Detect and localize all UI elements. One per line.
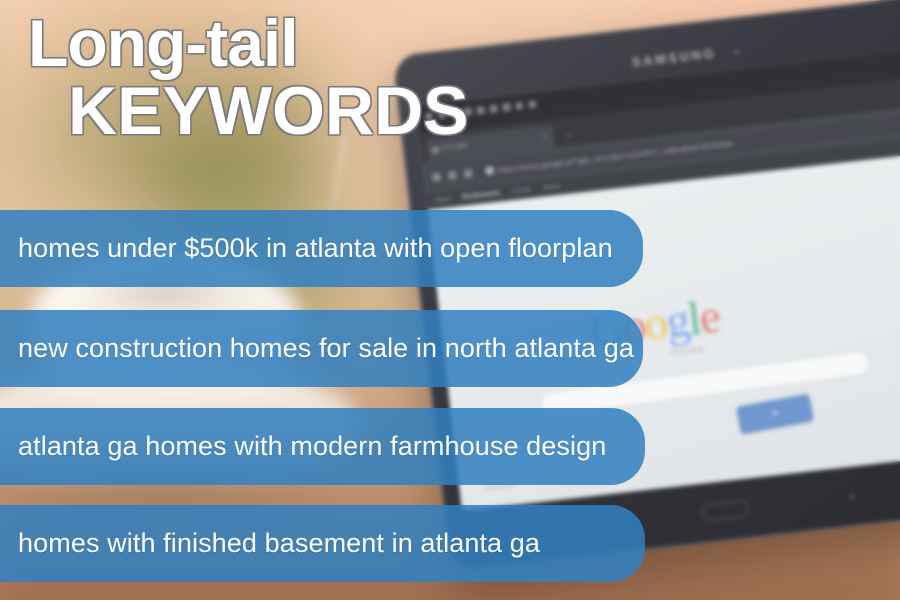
keyword-bar-2-label: new construction homes for sale in north… <box>18 333 634 364</box>
keyword-bar-1-label: homes under $500k in atlanta with open f… <box>18 233 613 264</box>
keyword-bar-3: atlanta ga homes with modern farmhouse d… <box>0 408 645 485</box>
keyword-bar-4: homes with finished basement in atlanta … <box>0 505 645 582</box>
keyword-bar-4-label: homes with finished basement in atlanta … <box>18 528 540 559</box>
keyword-bar-2: new construction homes for sale in north… <box>0 310 643 387</box>
keyword-bar-1: homes under $500k in atlanta with open f… <box>0 210 643 287</box>
promo-graphic-canvas: SAMSUNG <box>0 0 900 600</box>
keyword-bar-3-label: atlanta ga homes with modern farmhouse d… <box>18 431 606 462</box>
keyword-bar-list: homes under $500k in atlanta with open f… <box>0 0 900 600</box>
